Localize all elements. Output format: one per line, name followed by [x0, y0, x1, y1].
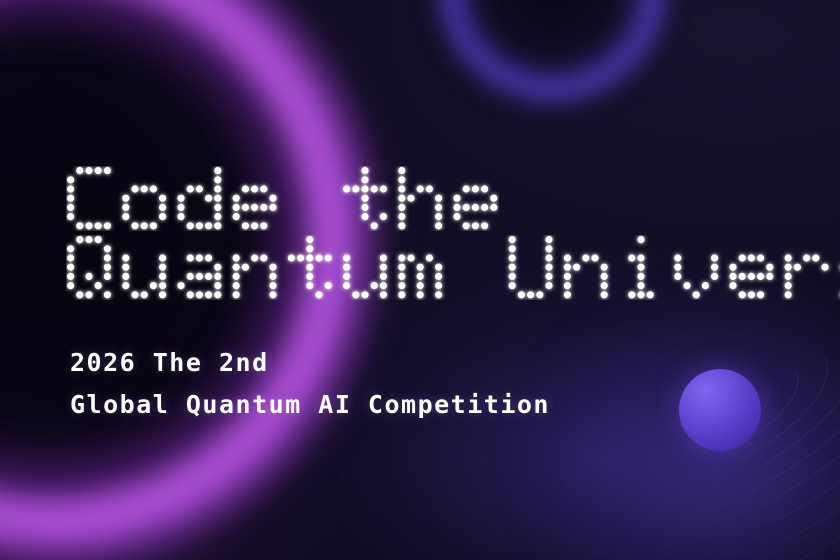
headline: [66, 166, 840, 300]
poster-canvas: 2026 The 2nd Global Quantum AI Competiti…: [0, 0, 840, 560]
subtitle-event: Global Quantum AI Competition: [70, 392, 550, 417]
headline-line-2: [66, 235, 840, 300]
headline-line-1: [66, 166, 840, 231]
subtitle-year: 2026 The 2nd: [70, 350, 550, 375]
poster-content: 2026 The 2nd Global Quantum AI Competiti…: [0, 0, 840, 560]
subtitle-block: 2026 The 2nd Global Quantum AI Competiti…: [70, 350, 550, 417]
dot-matrix-text: [66, 166, 499, 231]
dot-matrix-text: [66, 235, 840, 300]
